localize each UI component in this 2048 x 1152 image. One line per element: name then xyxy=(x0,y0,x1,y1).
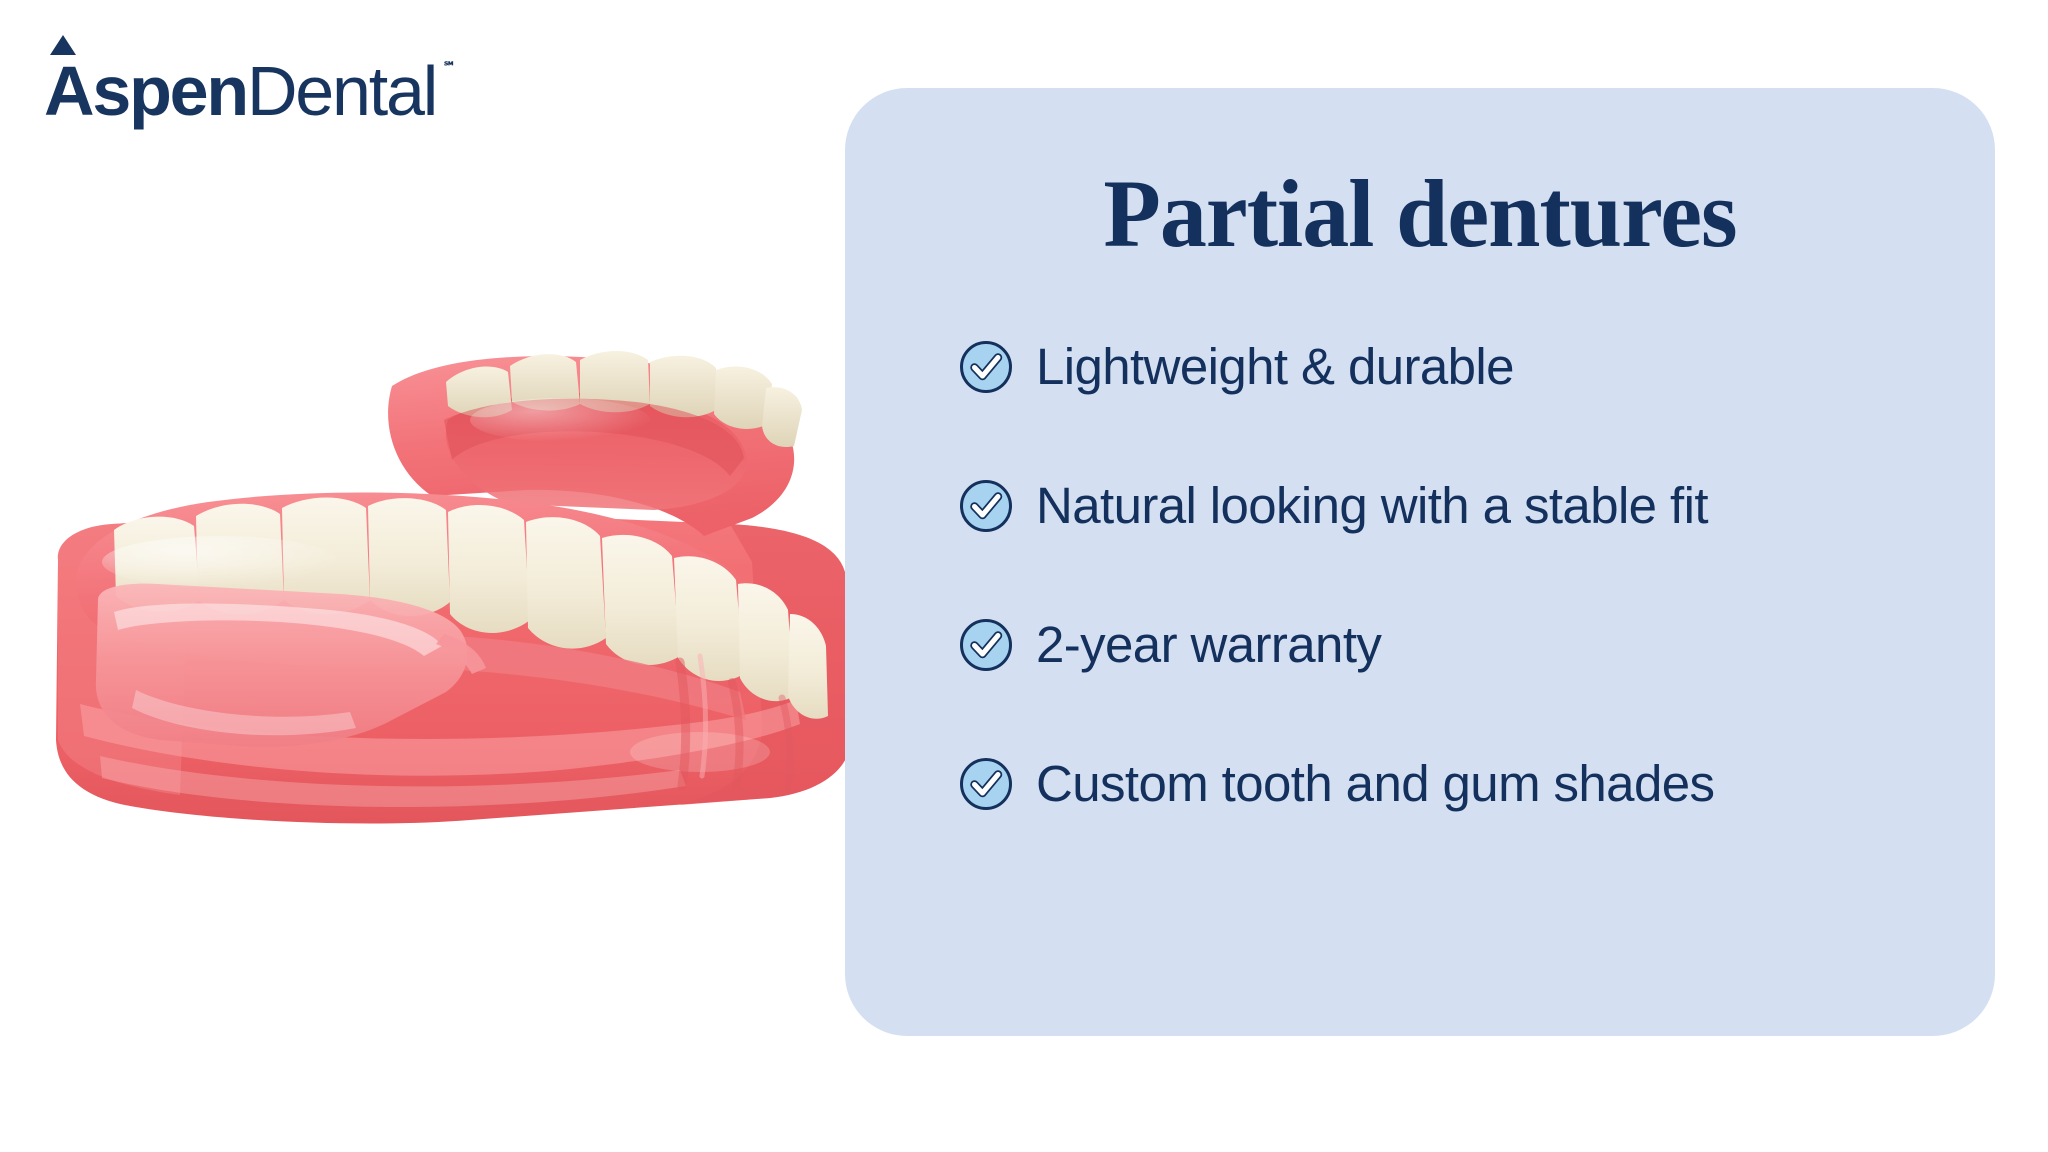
aspen-dental-logo: AspenDental ℠ xyxy=(44,36,564,126)
list-item-label: Lightweight & durable xyxy=(1036,340,1514,394)
service-mark-icon: ℠ xyxy=(443,60,456,73)
slide-canvas: AspenDental ℠ xyxy=(0,0,2048,1152)
list-item-label: 2-year warranty xyxy=(1036,618,1381,672)
feature-list: Lightweight & durable Natural looking wi… xyxy=(958,331,1958,820)
logo-text-aspen: Aspen xyxy=(44,52,247,130)
check-circle-icon xyxy=(958,339,1014,395)
list-item: Custom tooth and gum shades xyxy=(958,748,1958,820)
list-item-label: Custom tooth and gum shades xyxy=(1036,757,1714,811)
list-item: Lightweight & durable xyxy=(958,331,1958,403)
partial-denture-image xyxy=(40,300,960,860)
feature-panel: Partial dentures Lightweight & durable N… xyxy=(845,88,1995,1036)
check-circle-icon xyxy=(958,478,1014,534)
list-item-label: Natural looking with a stable fit xyxy=(1036,479,1708,533)
check-circle-icon xyxy=(958,617,1014,673)
page-title: Partial dentures xyxy=(857,166,1984,262)
circumflex-accent-icon xyxy=(50,35,76,55)
logo-wordmark: AspenDental ℠ xyxy=(44,56,436,126)
check-circle-icon xyxy=(958,756,1014,812)
list-item: Natural looking with a stable fit xyxy=(958,470,1958,542)
logo-text-dental: Dental xyxy=(247,52,436,130)
list-item: 2-year warranty xyxy=(958,609,1958,681)
